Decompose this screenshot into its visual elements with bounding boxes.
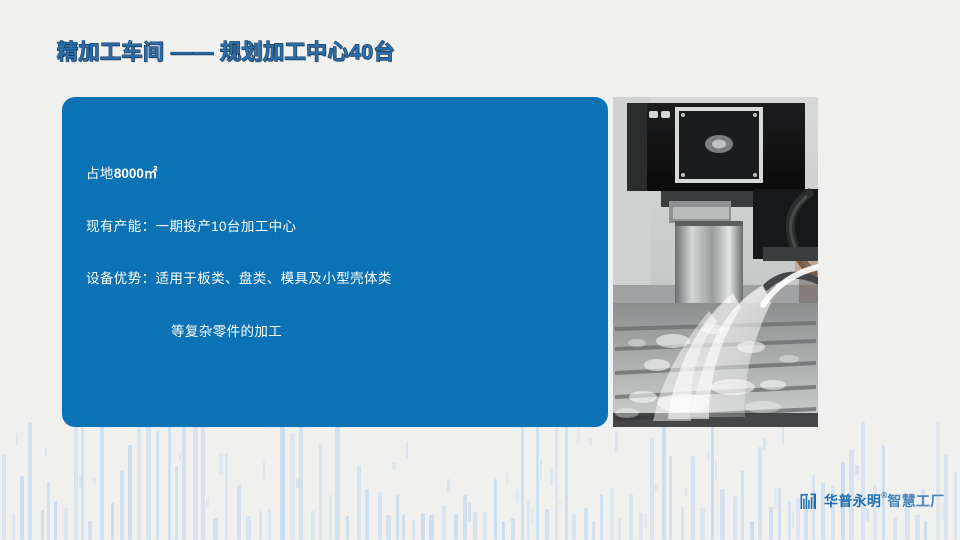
decorative-bar xyxy=(225,454,228,540)
decorative-bar xyxy=(329,495,332,540)
decorative-bar xyxy=(206,498,209,507)
decorative-bar xyxy=(774,487,777,509)
decorative-bar xyxy=(893,517,897,540)
decorative-bar xyxy=(584,508,588,540)
decorative-bar xyxy=(412,520,415,540)
decorative-bar xyxy=(128,445,132,540)
decorative-bar xyxy=(319,444,322,540)
content-panel: 占地8000㎡ 现有产能：一期投产10台加工中心 设备优势：适用于板类、盘类、模… xyxy=(62,97,608,427)
decorative-bar xyxy=(782,425,784,445)
decorative-bar xyxy=(81,422,84,540)
decorative-bar xyxy=(402,514,405,540)
decorative-bar xyxy=(454,514,458,540)
decorative-bar xyxy=(213,518,218,540)
sub-brand-name: 智慧工厂 xyxy=(887,491,944,511)
decorative-bar xyxy=(555,426,558,540)
decorative-bar xyxy=(290,433,295,540)
panel-line-1: 占地8000㎡ xyxy=(86,165,598,183)
decorative-bar xyxy=(618,518,621,540)
decorative-bar xyxy=(311,511,315,540)
panel-line-1-strong: 8000㎡ xyxy=(114,166,158,181)
decorative-bar xyxy=(396,495,399,540)
decorative-bar xyxy=(521,422,524,540)
decorative-bar xyxy=(758,447,762,540)
decorative-bar xyxy=(644,514,647,529)
page-title: 精加工车间 —— 规划加工中心40台 xyxy=(57,36,395,66)
decorative-bar xyxy=(473,512,477,540)
decorative-bar xyxy=(733,496,737,540)
decorative-bar xyxy=(100,422,104,540)
decorative-bar xyxy=(168,422,171,540)
decorative-bar xyxy=(156,431,159,540)
decorative-bar xyxy=(706,452,710,461)
decorative-bar xyxy=(483,512,487,540)
brand-logo-text: 华普永明 ® 智慧工厂 xyxy=(824,491,945,511)
decorative-bar xyxy=(861,422,865,540)
brand-name: 华普永明 xyxy=(824,491,881,511)
slide-canvas: 精加工车间 —— 规划加工中心40台 占地8000㎡ 现有产能：一期投产10台加… xyxy=(0,0,960,540)
decorative-bar xyxy=(936,422,940,540)
decorative-bar xyxy=(280,422,285,540)
decorative-bar xyxy=(685,488,687,497)
decorative-bar xyxy=(468,502,471,522)
decorative-bar xyxy=(463,495,467,540)
decorative-bar xyxy=(629,494,633,540)
decorative-bar xyxy=(246,516,251,540)
decorative-bar xyxy=(610,488,614,540)
decorative-bar xyxy=(741,471,744,540)
decorative-bar xyxy=(572,514,576,540)
decorative-bar xyxy=(536,422,539,540)
decorative-bar xyxy=(540,459,542,480)
decorative-bar xyxy=(64,508,68,540)
decorative-bar xyxy=(792,511,794,528)
decorative-bar xyxy=(502,521,505,540)
panel-line-4: 等复杂零件的加工 xyxy=(86,323,598,341)
decorative-bar xyxy=(506,473,508,483)
decorative-bar xyxy=(429,515,434,540)
decorative-bar xyxy=(45,448,47,456)
decorative-bar xyxy=(589,438,592,447)
decorative-bar xyxy=(111,503,114,540)
decorative-bar xyxy=(268,509,271,540)
decorative-bar xyxy=(219,454,223,475)
panel-line-1-prefix: 占地 xyxy=(86,166,114,181)
panel-text-block: 占地8000㎡ 现有产能：一期投产10台加工中心 设备优势：适用于板类、盘类、模… xyxy=(86,165,598,340)
decorative-bar xyxy=(421,513,425,540)
decorative-bar xyxy=(179,453,181,460)
decorative-bar xyxy=(47,482,50,540)
decorative-bar xyxy=(120,470,124,540)
decorative-bar xyxy=(88,521,92,540)
decorative-bar xyxy=(146,422,151,540)
decorative-bar xyxy=(442,505,446,540)
decorative-bar xyxy=(545,509,549,540)
huapu-yongming-mark-icon xyxy=(800,492,819,511)
decorative-bar xyxy=(137,422,141,540)
decorative-bar xyxy=(175,466,178,540)
decorative-bar xyxy=(763,438,766,451)
decorative-bar xyxy=(550,467,553,486)
decorative-bar xyxy=(711,422,714,540)
decorative-bar xyxy=(74,422,78,540)
decorative-bar xyxy=(193,422,198,540)
decorative-bar xyxy=(915,515,920,540)
decorative-bar xyxy=(527,501,530,540)
decorative-bar xyxy=(237,485,241,540)
decorative-bar xyxy=(650,437,654,540)
decorative-bar xyxy=(346,516,349,540)
decorative-bar xyxy=(386,515,391,540)
panel-line-3: 设备优势：适用于板类、盘类、模具及小型壳体类 xyxy=(86,270,598,288)
decorative-bar xyxy=(559,499,561,510)
decorative-bar xyxy=(531,509,533,526)
decorative-bar xyxy=(20,476,24,540)
decorative-bar xyxy=(639,513,643,540)
panel-line-2: 现有产能：一期投产10台加工中心 xyxy=(86,218,598,236)
decorative-bar xyxy=(93,478,96,485)
decorative-bar xyxy=(615,431,618,452)
decorative-bar xyxy=(778,488,781,540)
decorative-bar xyxy=(16,433,18,446)
panel-line-2-text: 现有产能：一期投产10台加工中心 xyxy=(86,219,296,234)
decorative-bar xyxy=(259,511,262,540)
decorative-bar xyxy=(669,456,672,540)
decorative-bar xyxy=(600,494,603,540)
registered-trademark: ® xyxy=(881,492,887,500)
decorative-bar xyxy=(750,521,754,540)
decorative-bar xyxy=(2,455,6,540)
panel-line-3-text: 设备优势：适用于板类、盘类、模具及小型壳体类 xyxy=(86,271,392,286)
decorative-bar xyxy=(201,427,205,540)
decorative-bar xyxy=(700,508,705,540)
decorative-bar xyxy=(788,501,791,540)
panel-line-4-text: 等复杂零件的加工 xyxy=(171,324,282,339)
decorative-bar xyxy=(577,428,580,443)
decorative-bar xyxy=(41,510,44,540)
decorative-bar xyxy=(924,521,927,540)
decorative-bar xyxy=(565,422,568,540)
brand-logo: 华普永明 ® 智慧工厂 xyxy=(800,489,945,513)
decorative-bar xyxy=(691,456,695,540)
decorative-bar xyxy=(511,518,515,540)
decorative-bar xyxy=(592,521,595,540)
decorative-bar xyxy=(182,422,186,540)
decorative-bar xyxy=(494,479,497,540)
decorative-bar xyxy=(365,489,369,540)
decorative-bar xyxy=(447,479,450,492)
decorative-bar xyxy=(263,461,265,479)
decorative-bar xyxy=(655,484,658,491)
decorative-bar xyxy=(12,513,15,540)
decorative-bar xyxy=(681,507,684,540)
decorative-bar xyxy=(855,465,859,475)
decorative-bar xyxy=(378,492,382,540)
decorative-bar xyxy=(392,462,396,469)
decorative-bar xyxy=(720,489,725,540)
decorative-bar xyxy=(54,501,57,540)
decorative-bar xyxy=(406,441,408,459)
machining-center-photo xyxy=(613,97,818,427)
decorative-bar xyxy=(357,466,361,540)
decorative-bar xyxy=(335,422,340,540)
decorative-bar xyxy=(954,472,957,540)
decorative-bar xyxy=(516,489,519,503)
decorative-bar xyxy=(299,422,303,540)
decorative-bar xyxy=(28,422,32,540)
decorative-bar xyxy=(715,461,717,480)
decorative-bar-pattern xyxy=(0,420,960,540)
decorative-bar xyxy=(662,422,666,540)
decorative-bar xyxy=(769,507,773,540)
